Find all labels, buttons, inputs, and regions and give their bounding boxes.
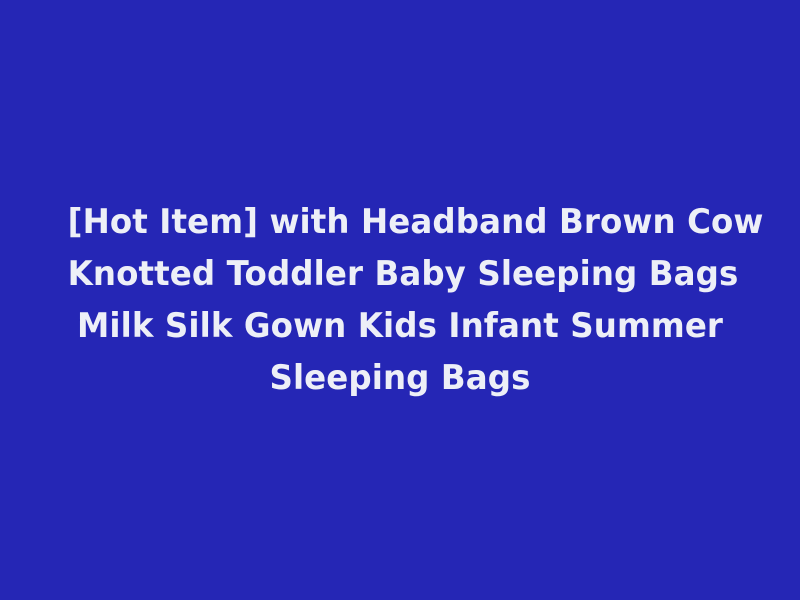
product-title-card: [Hot Item] with Headband Brown Cow Knott…: [0, 0, 800, 600]
title-line-3: Milk Silk Gown Kids Infant Summer: [68, 300, 733, 352]
title-line-4: Sleeping Bags: [68, 352, 733, 404]
title-line-2: Knotted Toddler Baby Sleeping Bags: [68, 248, 733, 300]
product-title: [Hot Item] with Headband Brown Cow Knott…: [40, 196, 760, 404]
title-line-1: [Hot Item] with Headband Brown Cow: [68, 196, 733, 248]
